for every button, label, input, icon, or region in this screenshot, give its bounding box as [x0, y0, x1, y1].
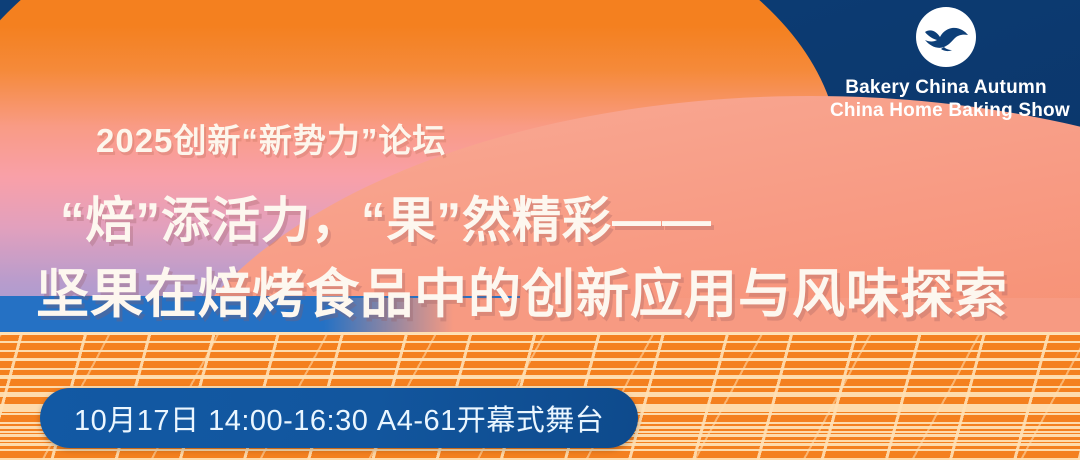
- headline-line-2: 坚果在焙烤食品中的创新应用与风味探索: [36, 252, 1008, 328]
- promo-poster: Bakery China Autumn China Home Baking Sh…: [0, 0, 1080, 460]
- session-info-text: 10月17日 14:00-16:30 A4-61开幕式舞台: [74, 397, 604, 439]
- forum-kicker: 2025创新“新势力”论坛: [96, 114, 446, 162]
- logo-line-1: Bakery China Autumn: [830, 76, 1062, 99]
- wave-bird-circle-icon: [913, 4, 979, 70]
- event-logo: Bakery China Autumn China Home Baking Sh…: [830, 4, 1062, 122]
- session-info-pill: 10月17日 14:00-16:30 A4-61开幕式舞台: [40, 388, 638, 448]
- headline-line-1: “焙”添活力，“果”然精彩——: [60, 181, 712, 252]
- logo-line-2: China Home Baking Show: [830, 99, 1062, 122]
